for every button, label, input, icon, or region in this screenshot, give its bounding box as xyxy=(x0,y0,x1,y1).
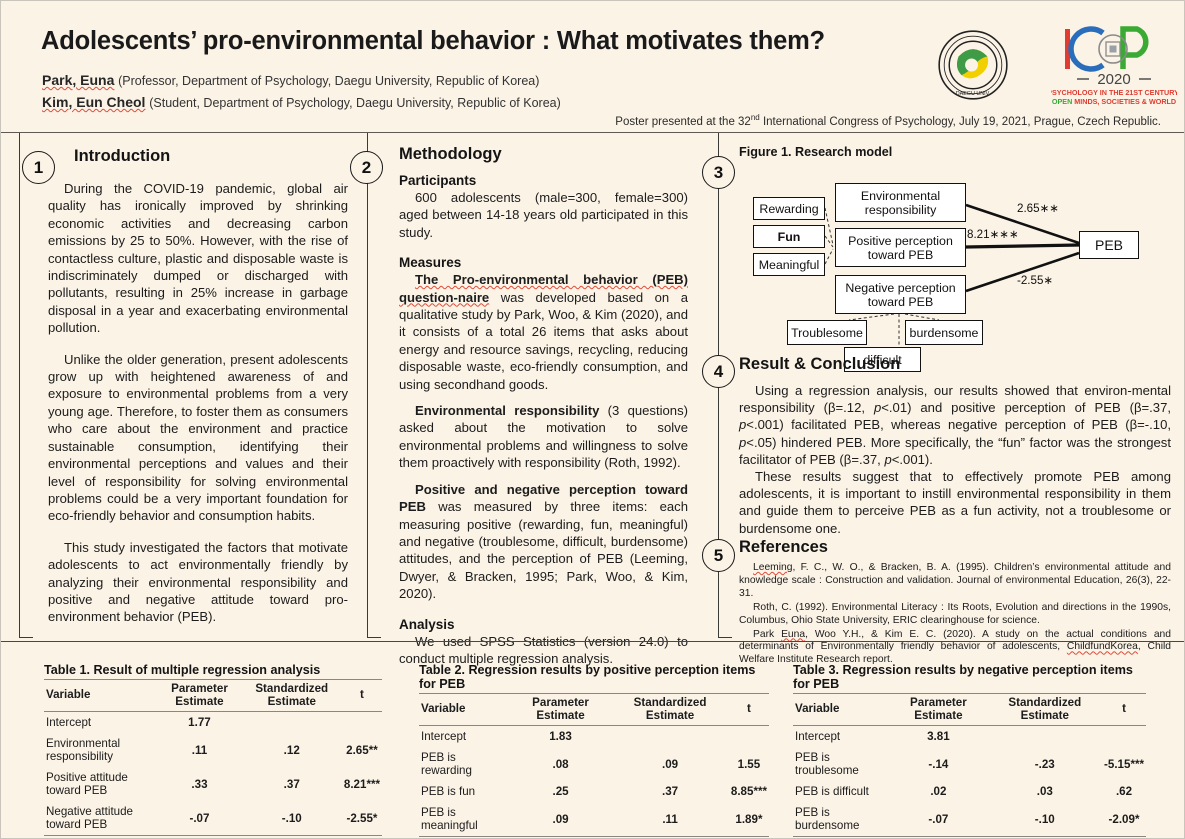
table-cell: 8.21*** xyxy=(342,767,382,801)
table-1-header-cell: Standardized Estimate xyxy=(242,680,342,712)
author-2-affiliation: (Student, Department of Psychology, Daeg… xyxy=(149,96,561,110)
table-cell: .12 xyxy=(242,733,342,767)
table-cell: Intercept xyxy=(793,726,889,748)
table-cell: Negative attitude toward PEB xyxy=(44,801,157,836)
section-methodology: Methodology Participants 600 adolescents… xyxy=(399,145,688,681)
table-cell: .62 xyxy=(1102,781,1146,802)
author-1-affiliation: (Professor, Department of Psychology, Da… xyxy=(118,74,539,88)
table-cell: .33 xyxy=(157,767,241,801)
table-row: Negative attitude toward PEB -.07 -.10 -… xyxy=(44,801,382,836)
table-cell: 2.65** xyxy=(342,733,382,767)
table-header-row: Variable Parameter Estimate Standardized… xyxy=(793,694,1146,726)
icp-2020-logo-icon: 2020 PSYCHOLOGY IN THE 21ST CENTURY: OPE… xyxy=(1051,25,1177,107)
table-3: Variable Parameter Estimate Standardized… xyxy=(793,693,1146,837)
column-divider-1 xyxy=(19,133,20,637)
table-cell: PEB is rewarding xyxy=(419,747,510,781)
references-heading: References xyxy=(739,538,1171,557)
table-cell: 8.85*** xyxy=(729,781,769,802)
table-cell: .11 xyxy=(611,802,729,837)
table-row: Intercept 3.81 xyxy=(793,726,1146,748)
table-cell: Intercept xyxy=(44,712,157,734)
model-box-positive-perception: Positive perception toward PEB xyxy=(835,228,966,267)
model-box-environmental-responsibility: Environmental responsibility xyxy=(835,183,966,222)
table-cell: .02 xyxy=(889,781,987,802)
table-3-header-cell: Variable xyxy=(793,694,889,726)
author-2-name: Kim, Eun Cheol xyxy=(42,94,145,110)
table-3-header-cell: Parameter Estimate xyxy=(889,694,987,726)
table-cell: 1.77 xyxy=(157,712,241,734)
table-header-row: Variable Parameter Estimate Standardized… xyxy=(419,694,769,726)
table-cell: PEB is burdensome xyxy=(793,802,889,837)
table-cell: 1.55 xyxy=(729,747,769,781)
column-divider-2 xyxy=(367,133,368,637)
participants-text: 600 adolescents (male=300, female=300) a… xyxy=(399,189,688,241)
table-2-header-cell: Standardized Estimate xyxy=(611,694,729,726)
table-cell: -5.15*** xyxy=(1102,747,1146,781)
table-2: Variable Parameter Estimate Standardized… xyxy=(419,693,769,837)
measure-positive-negative-perception: Positive and negative perception toward … xyxy=(399,481,688,603)
table-cell: Environmental responsibility xyxy=(44,733,157,767)
poster-body: 1 2 3 4 5 Introduction During the COVID-… xyxy=(1,133,1185,639)
table-cell: .08 xyxy=(510,747,612,781)
table-cell: PEB is meaningful xyxy=(419,802,510,837)
table-cell: -.23 xyxy=(988,747,1102,781)
introduction-heading: Introduction xyxy=(48,147,348,166)
research-model-diagram: Environmental responsibility Positive pe… xyxy=(739,163,1169,368)
table-2-header-cell: Variable xyxy=(419,694,510,726)
section-number-2: 2 xyxy=(350,151,383,184)
section-research-model: Figure 1. Research model Environm xyxy=(739,145,1169,368)
table-row: Intercept 1.83 xyxy=(419,726,769,748)
table-row: PEB is troublesome -.14 -.23 -5.15*** xyxy=(793,747,1146,781)
model-box-fun: Fun xyxy=(753,225,825,248)
participants-heading: Participants xyxy=(399,173,688,188)
measure-peb-questionnaire: The Pro-environmental behavior (PEB) que… xyxy=(399,271,688,393)
table-cell: 1.89* xyxy=(729,802,769,837)
table-1-title: Table 1. Result of multiple regression a… xyxy=(44,663,382,677)
table-cell: .25 xyxy=(510,781,612,802)
section-number-4: 4 xyxy=(702,355,735,388)
introduction-paragraph-1: During the COVID-19 pandemic, global air… xyxy=(48,180,348,337)
table-1-header-cell: Parameter Estimate xyxy=(157,680,241,712)
table-row: PEB is fun .25 .37 8.85*** xyxy=(419,781,769,802)
table-cell xyxy=(729,726,769,748)
table-cell: -2.55* xyxy=(342,801,382,836)
introduction-paragraph-2: Unlike the older generation, present ado… xyxy=(48,351,348,525)
column-divider-3-foot xyxy=(718,637,732,638)
table-row: Intercept 1.77 xyxy=(44,712,382,734)
methodology-heading: Methodology xyxy=(399,145,688,164)
column-divider-1-foot xyxy=(19,637,33,638)
table-cell: -.07 xyxy=(889,802,987,837)
svg-text:PSYCHOLOGY IN THE 21ST CENTURY: PSYCHOLOGY IN THE 21ST CENTURY: xyxy=(1051,88,1177,97)
model-box-negative-perception: Negative perception toward PEB xyxy=(835,275,966,314)
table-cell: -.10 xyxy=(988,802,1102,837)
table-cell: -.14 xyxy=(889,747,987,781)
analysis-heading: Analysis xyxy=(399,617,688,632)
result-heading: Result & Conclusion xyxy=(739,355,1171,374)
poster-header: Adolescents’ pro-environmental behavior … xyxy=(1,1,1185,132)
table-cell: .09 xyxy=(510,802,612,837)
table-cell: .11 xyxy=(157,733,241,767)
table-row: Positive attitude toward PEB .33 .37 8.2… xyxy=(44,767,382,801)
table-2-wrapper: Table 2. Regression results by positive … xyxy=(419,663,769,839)
poster-root: Adolescents’ pro-environmental behavior … xyxy=(0,0,1185,839)
table-cell: Intercept xyxy=(419,726,510,748)
table-1-header-cell: t xyxy=(342,680,382,712)
path-coefficient-env-peb: 2.65∗∗ xyxy=(1017,201,1059,215)
table-cell: .37 xyxy=(611,781,729,802)
table-cell xyxy=(1102,726,1146,748)
page-title: Adolescents’ pro-environmental behavior … xyxy=(41,27,825,56)
table-cell xyxy=(242,712,342,734)
table-3-wrapper: Table 3. Regression results by negative … xyxy=(793,663,1146,839)
table-1: Variable Parameter Estimate Standardized… xyxy=(44,679,382,836)
table-3-title: Table 3. Regression results by negative … xyxy=(793,663,1146,691)
tables-area: Table 1. Result of multiple regression a… xyxy=(1,642,1185,839)
table-cell: PEB is fun xyxy=(419,781,510,802)
result-paragraph-2: These results suggest that to effectivel… xyxy=(739,468,1171,537)
path-coefficient-pos-peb: 8.21∗∗∗ xyxy=(967,227,1019,241)
table-cell xyxy=(988,726,1102,748)
table-2-header-cell: t xyxy=(729,694,769,726)
model-box-troublesome: Troublesome xyxy=(787,320,867,345)
model-box-peb: PEB xyxy=(1079,231,1139,259)
table-1-wrapper: Table 1. Result of multiple regression a… xyxy=(44,663,382,839)
table-2-title: Table 2. Regression results by positive … xyxy=(419,663,769,691)
table-row: PEB is meaningful .09 .11 1.89* xyxy=(419,802,769,837)
table-cell: 1.83 xyxy=(510,726,612,748)
presented-at-note: Poster presented at the 32nd Internation… xyxy=(615,113,1161,128)
reference-item: Roth, C. (1992). Environmental Literacy … xyxy=(739,602,1171,628)
table-3-header-cell: Standardized Estimate xyxy=(988,694,1102,726)
table-cell: -.07 xyxy=(157,801,241,836)
table-row: PEB is difficult .02 .03 .62 xyxy=(793,781,1146,802)
table-cell xyxy=(611,726,729,748)
table-cell: -2.09* xyxy=(1102,802,1146,837)
svg-text:2020: 2020 xyxy=(1097,71,1130,88)
table-cell: -.10 xyxy=(242,801,342,836)
author-line-2: Kim, Eun Cheol (Student, Department of P… xyxy=(42,94,561,110)
table-cell: .09 xyxy=(611,747,729,781)
table-3-header-cell: t xyxy=(1102,694,1146,726)
daegu-university-logo-icon: DAEGU UNIV. xyxy=(937,29,1009,101)
table-row: PEB is rewarding .08 .09 1.55 xyxy=(419,747,769,781)
table-row: PEB is burdensome -.07 -.10 -2.09* xyxy=(793,802,1146,837)
column-divider-2-foot xyxy=(367,637,381,638)
section-number-3: 3 xyxy=(702,156,735,189)
reference-item: Leeming, F. C., W. O., & Bracken, B. A. … xyxy=(739,562,1171,601)
path-coefficient-neg-peb: -2.55∗ xyxy=(1017,273,1053,287)
author-1-name: Park, Euna xyxy=(42,72,114,88)
introduction-paragraph-3: This study investigated the factors that… xyxy=(48,539,348,626)
measure-environmental-responsibility: Environmental responsibility (3 question… xyxy=(399,402,688,472)
author-line-1: Park, Euna (Professor, Department of Psy… xyxy=(42,72,539,88)
table-row: Environmental responsibility .11 .12 2.6… xyxy=(44,733,382,767)
figure-caption: Figure 1. Research model xyxy=(739,145,1169,159)
model-box-burdensome: burdensome xyxy=(905,320,983,345)
table-cell: PEB is troublesome xyxy=(793,747,889,781)
table-cell: .03 xyxy=(988,781,1102,802)
svg-text:OPEN MINDS, SOCIETIES & WORLD: OPEN MINDS, SOCIETIES & WORLD xyxy=(1052,97,1176,106)
model-box-rewarding: Rewarding xyxy=(753,197,825,220)
table-header-row: Variable Parameter Estimate Standardized… xyxy=(44,680,382,712)
table-2-header-cell: Parameter Estimate xyxy=(510,694,612,726)
table-cell: Positive attitude toward PEB xyxy=(44,767,157,801)
table-cell: PEB is difficult xyxy=(793,781,889,802)
table-cell xyxy=(342,712,382,734)
table-1-header-cell: Variable xyxy=(44,680,157,712)
svg-text:DAEGU UNIV.: DAEGU UNIV. xyxy=(956,91,991,97)
section-introduction: Introduction During the COVID-19 pandemi… xyxy=(48,147,348,640)
table-cell: .37 xyxy=(242,767,342,801)
table-cell: 3.81 xyxy=(889,726,987,748)
model-box-meaningful: Meaningful xyxy=(753,253,825,276)
section-result-conclusion: Result & Conclusion Using a regression a… xyxy=(739,355,1171,537)
section-number-5: 5 xyxy=(702,539,735,572)
measures-heading: Measures xyxy=(399,255,688,270)
result-paragraph-1: Using a regression analysis, our results… xyxy=(739,382,1171,468)
